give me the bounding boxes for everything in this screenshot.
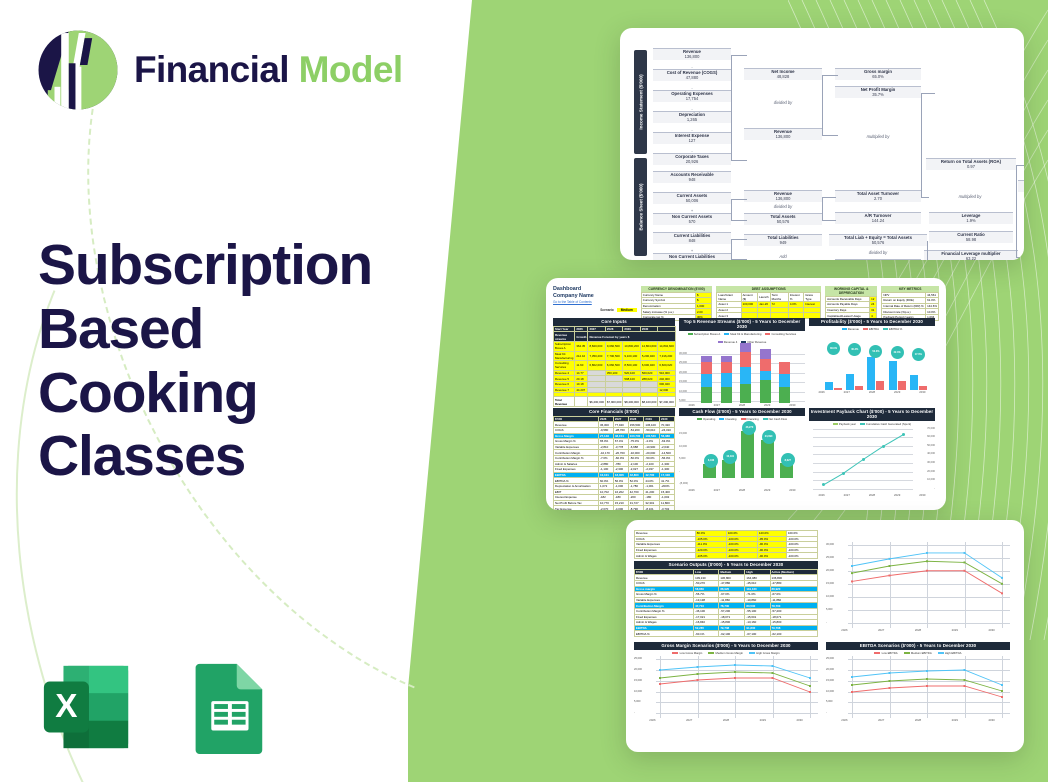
brand-logo: Financial Model xyxy=(36,28,403,112)
page-title-line-4: Classes xyxy=(38,425,458,489)
y-tick-label: 15,000 xyxy=(634,679,642,682)
core-inputs-table: Start Year20262027202820292030Revenue st… xyxy=(553,326,676,407)
x-tick-label: 2030 xyxy=(796,718,802,722)
connector xyxy=(1016,165,1017,257)
x-tick-label: 2030 xyxy=(919,493,925,497)
node-depreciation: Depreciation1,265 xyxy=(653,111,731,123)
connector xyxy=(822,197,823,221)
node-revenue: Revenue136,800 xyxy=(653,48,731,60)
table-cell: Revenue Forecast by years $ xyxy=(588,332,675,342)
income-statement-band: Income Statement ($'000) xyxy=(634,50,647,154)
left-content-panel: Financial Model Subscription Based Cooki… xyxy=(0,0,470,782)
data-point xyxy=(862,458,865,461)
legend-item: Cumulative Cash Generated (Spent) xyxy=(860,422,911,426)
legend-item: Net Cash Flow xyxy=(763,417,787,421)
x-tick-label: 2027 xyxy=(878,628,884,632)
table-cell: 6,802,000 xyxy=(588,361,605,371)
legend-item: EBITDA % xyxy=(883,327,902,331)
table-cell: -90.0% xyxy=(757,553,786,559)
y-tick-label: 10,000 xyxy=(634,690,642,693)
x-tick-label: 2026 xyxy=(818,390,824,394)
data-label-bubble: 10,191 xyxy=(723,450,737,464)
brand-name-part2: Model xyxy=(299,49,403,90)
legend-swatch xyxy=(672,652,678,654)
bar-segment xyxy=(779,374,790,387)
table-cell: -67,100 xyxy=(745,631,770,637)
table-of-contents-link[interactable]: Go to the Table of Contents xyxy=(553,300,637,304)
page-title-line-3: Cooking xyxy=(38,362,458,426)
scenario-value[interactable]: Medium xyxy=(617,308,637,312)
x-tick-label: 2028 xyxy=(915,628,921,632)
table-row: Admin & Wages-105.0%-100.0%-90.0%-100.0% xyxy=(635,553,818,559)
table-cell: $8,400,000 xyxy=(623,397,640,407)
node-revenue-2: Revenue136,800 xyxy=(744,128,822,140)
table-cell: Revenue streams xyxy=(554,332,575,342)
bar xyxy=(867,357,875,390)
chart-x-axis: 20262027202820292030 xyxy=(634,718,818,722)
legend-item: High Gross Margin xyxy=(749,651,780,655)
connector xyxy=(1016,257,1024,258)
working-capital-panel: WORKING CAPITAL & DEPRECIATION Accounts … xyxy=(825,286,877,319)
node-roa: Return on Total Assets (ROA)0.97 xyxy=(926,158,1016,170)
connector xyxy=(921,93,922,197)
legend-swatch xyxy=(765,333,770,335)
line-series-group xyxy=(826,656,1010,718)
data-point xyxy=(842,472,845,475)
table-cell: Consulting Services xyxy=(554,361,575,371)
table-cell: -62,100 xyxy=(719,631,745,637)
table-cell: Total Revenue xyxy=(554,397,575,407)
table-cell: Grace Type xyxy=(804,292,821,302)
chart-x-axis: 20262027202820292030 xyxy=(679,403,805,407)
bar xyxy=(855,386,863,390)
op-multiplied-1: multiplied by xyxy=(848,134,908,139)
data-label-bubble: 24,090 xyxy=(762,430,776,444)
x-tick-label: 2028 xyxy=(739,488,745,492)
table-cell: 9,060,500 xyxy=(605,341,622,351)
op-divided-1: divided by xyxy=(753,100,813,105)
table-cell: 7,350,200 xyxy=(588,351,605,361)
table-cell: -105.0% xyxy=(695,553,726,559)
node-non-current-assets: Non Current Assets570 xyxy=(653,213,731,225)
debt-panel: DEBT ASSUMPTIONS Loan/Grant NameAmount (… xyxy=(716,286,821,319)
node-roe: Return on Equity (ROE)61.03 xyxy=(1018,180,1024,192)
x-tick-label: 2027 xyxy=(714,488,720,492)
scenario-analysis-screenshot[interactable]: Revenue80.0%100.0%120.0%100.0%COGS-105.0… xyxy=(626,520,1024,752)
legend-swatch xyxy=(833,423,838,425)
node-total-liab-equity: Total Liab + Equity = Total Assets50,576 xyxy=(829,234,927,246)
data-label-bubble: 36.0% xyxy=(827,342,840,355)
table-cell: Amount ($) xyxy=(741,292,758,302)
core-financials-panel: Core Financials ($'000) $'00020262027202… xyxy=(553,408,675,504)
bar-segment xyxy=(701,362,712,374)
connector xyxy=(921,93,935,94)
bar xyxy=(898,381,906,390)
x-tick-label: 2026 xyxy=(841,628,847,632)
x-tick-label: 2029 xyxy=(952,628,958,632)
y-tick-label: 20,000 xyxy=(826,668,834,671)
y-tick-label: 30,000 xyxy=(927,461,935,464)
node-gross-margin: Gross margin65.0% xyxy=(835,68,921,80)
x-tick-label: 2030 xyxy=(789,488,795,492)
x-tick-label: 2029 xyxy=(952,718,958,722)
connector xyxy=(822,75,823,135)
legend-item: Subscription Boxes A xyxy=(688,332,720,336)
legend-swatch xyxy=(719,418,724,420)
ebitda-scenarios-chart: EBITDA Scenarios ($'000) - 5 Years to De… xyxy=(826,642,1010,736)
x-tick-label: 2027 xyxy=(844,390,850,394)
bar xyxy=(825,382,833,390)
legend-item: Medium Gross Margin xyxy=(708,651,743,655)
node-net-income: Net Income48,828 xyxy=(744,68,822,80)
bar-segment xyxy=(721,387,732,403)
bar xyxy=(910,375,918,390)
table-cell: Term Months xyxy=(770,292,788,302)
bar-segment xyxy=(740,343,751,352)
node-revenue-3: Revenue136,800 xyxy=(744,190,822,202)
legend-swatch xyxy=(883,328,888,330)
legend-item: Consulting Services xyxy=(765,332,796,336)
bar xyxy=(701,356,712,403)
y-tick-label: 50,000 xyxy=(927,444,935,447)
y-tick-label: - xyxy=(634,711,635,714)
legend-swatch xyxy=(860,423,865,425)
y-tick-label: 30,000 xyxy=(826,543,834,546)
x-tick-label: 2030 xyxy=(988,628,994,632)
y-tick-label: 25,000 xyxy=(826,657,834,660)
bar-segment xyxy=(740,384,751,403)
table-cell: 144.6% xyxy=(926,303,939,309)
table-cell: -2,070 xyxy=(598,506,613,510)
bar-segment xyxy=(760,349,771,359)
node-non-current-liabilities: Non Current Liabilities101 xyxy=(653,253,731,260)
table-cell: 14,804,600 xyxy=(658,341,675,351)
bar xyxy=(876,381,884,390)
table-cell: 364.35 xyxy=(575,341,588,351)
table-row: Return on Equity (ROE)61.0% xyxy=(882,298,939,304)
core-financials-table: $'00020262027202820292030Revenue36,30077… xyxy=(553,416,675,510)
legend-item: Operating xyxy=(697,417,715,421)
legend-item: Low EBITDA xyxy=(874,651,897,655)
x-tick-label: 2028 xyxy=(915,718,921,722)
legend-swatch xyxy=(749,652,755,654)
dupont-analysis-screenshot[interactable]: Income Statement ($'000) Balance Sheet (… xyxy=(620,28,1024,260)
table-row: Loan/Grant NameAmount ($)LaunchTerm Mont… xyxy=(717,292,821,302)
bar-segment xyxy=(721,373,732,387)
table-cell: -62,100 xyxy=(770,631,817,637)
data-point xyxy=(822,483,825,486)
legend-item: Investing xyxy=(719,417,736,421)
x-tick-label: 2028 xyxy=(739,403,745,407)
wc-table: Accounts Receivable Days12Accounts Payab… xyxy=(825,296,877,319)
x-tick-label: 2029 xyxy=(894,390,900,394)
bar-segment xyxy=(701,387,712,403)
data-point xyxy=(882,445,885,448)
x-tick-label: 2029 xyxy=(894,493,900,497)
y-tick-label: 20,000 xyxy=(826,569,834,572)
table-cell: -100.0% xyxy=(726,553,757,559)
bar-segment xyxy=(740,367,751,383)
scenario-revenue-chart: 30,00025,00020,00015,00010,0005,000- 202… xyxy=(826,530,1010,634)
node-interest-expense: Interest Expense127 xyxy=(653,132,731,144)
chart-plot: 36.0%40.2%52.0%42.4%17.0% xyxy=(809,332,935,390)
dashboard-body: DashboardCompany Name Go to the Table of… xyxy=(546,278,946,510)
table-cell: 6,600,020 xyxy=(658,361,675,371)
node-current-liabilities: Current Liabilities848 xyxy=(653,232,731,244)
node-accounts-receivable: Accounts Receivable948 xyxy=(653,171,731,183)
currency-panel: CURRENCY DENOMINATION ($'000) Currency N… xyxy=(641,286,713,321)
chart-x-axis: 20262027202820292030 xyxy=(826,718,1010,722)
table-row: Internal Rate of Return (IRR) %144.6% xyxy=(882,303,939,309)
data-label-bubble: 42.4% xyxy=(891,346,904,359)
bar xyxy=(761,440,774,478)
table-cell: Interest % xyxy=(788,292,803,302)
x-tick-label: 2029 xyxy=(764,488,770,492)
op-divided-3: divided by xyxy=(848,250,908,255)
node-leverage: Leverage1.9% xyxy=(929,212,1013,224)
x-tick-label: 2030 xyxy=(988,718,994,722)
table-row: Revenue streamsGrowthRevenue Forecast by… xyxy=(554,332,676,342)
table-cell: $7,900,000 xyxy=(605,397,622,407)
bar-segment xyxy=(760,371,771,380)
chart-x-axis: 20262027202820292030 xyxy=(679,488,805,492)
y-tick-label: - xyxy=(826,711,827,714)
scenario-assumptions-table: Revenue80.0%100.0%120.0%100.0%COGS-105.0… xyxy=(634,530,818,559)
node-current-assets: Current Assets50,006 xyxy=(653,192,731,204)
x-tick-label: 2028 xyxy=(869,493,875,497)
y-tick-label: - xyxy=(826,621,827,624)
x-tick-label: 2030 xyxy=(919,390,925,394)
legend-item: Meal Kit & Manufacturing xyxy=(724,332,761,336)
table-cell: 8,500,100 xyxy=(623,361,640,371)
legend-swatch xyxy=(718,341,723,343)
bar-segment xyxy=(740,352,751,367)
y-tick-label: 15,000 xyxy=(826,679,834,682)
table-cell: 10,800,200 xyxy=(623,341,640,351)
table-cell: -4,000 xyxy=(613,506,628,510)
connector xyxy=(731,199,747,200)
data-label-bubble: 6,446 xyxy=(704,454,718,468)
bar-segment xyxy=(760,380,771,403)
page-title-line-1: Subscription xyxy=(38,234,458,298)
legend-swatch xyxy=(741,418,746,420)
table-cell: 6,060,500 xyxy=(605,361,622,371)
legend-item: EBITDA xyxy=(863,327,879,331)
y-tick-label: - xyxy=(934,487,935,490)
x-tick-label: 2028 xyxy=(723,718,729,722)
legend-item: Revenue 4 xyxy=(718,340,738,344)
x-tick-label: 2026 xyxy=(688,488,694,492)
table-cell: -3,702 xyxy=(660,506,675,510)
legend-swatch xyxy=(938,652,944,654)
y-tick-label: 10,000 xyxy=(826,595,834,598)
data-label-bubble: 17.0% xyxy=(912,348,925,361)
legend-item: Revenue xyxy=(842,327,859,331)
table-cell: 5,200,020 xyxy=(640,351,657,361)
bar xyxy=(721,356,732,403)
chart-x-axis: 20262027202820292030 xyxy=(826,628,1010,632)
bar xyxy=(740,343,751,403)
legend-item: Medium EBITDA xyxy=(904,651,932,655)
table-cell: -100.0% xyxy=(786,553,817,559)
node-cogs: Cost of Revenue (COGS)47,880 xyxy=(653,69,731,81)
revenue-streams-chart: Top 5 Revenue Streams ($'000) - 5 Years … xyxy=(679,318,805,404)
connector xyxy=(731,220,747,221)
page-title-line-2: Based xyxy=(38,298,458,362)
table-cell: 212.10 xyxy=(575,351,588,361)
legend-swatch xyxy=(688,333,693,335)
y-tick-label: 5,000 xyxy=(826,700,833,703)
bar xyxy=(889,361,897,390)
table-cell: $8,100,000 xyxy=(640,397,657,407)
bar xyxy=(741,431,754,478)
financial-dashboard-screenshot[interactable]: DashboardCompany Name Go to the Table of… xyxy=(546,278,946,510)
node-total-asset-turnover: Total Asset Turnover2.70 xyxy=(835,190,921,202)
x-tick-label: 2029 xyxy=(764,403,770,407)
legend-item: Payback year xyxy=(833,422,856,426)
node-ar-turnover: A/R Turnover144.24 xyxy=(835,212,921,224)
connector xyxy=(822,197,836,198)
bar xyxy=(834,388,842,390)
chart-plot: 70,00060,00050,00040,00030,00020,00010,0… xyxy=(809,427,935,493)
legend-swatch xyxy=(697,418,702,420)
connector xyxy=(731,239,732,260)
debt-table: Loan/Grant NameAmount ($)LaunchTerm Mont… xyxy=(716,292,821,319)
table-cell: $7,200,000 xyxy=(658,397,675,407)
connector xyxy=(822,135,838,136)
chart-plot: 30,00025,00020,00015,00010,0005,000- xyxy=(826,542,1010,628)
gross-margin-scenarios-chart: Gross Margin Scenarios ($'000) - 5 Years… xyxy=(634,642,818,736)
op-add: Add xyxy=(753,254,813,259)
legend-swatch xyxy=(724,333,729,335)
node-financial-leverage-multiplier: Financial Leverage multiplier63.22 xyxy=(924,250,1018,260)
brand-name-part1: Financial xyxy=(134,49,289,90)
op-divided-2: divided by xyxy=(753,204,813,209)
chart-plot: 25,00020,00015,00010,0005,000- xyxy=(634,656,818,718)
y-tick-label: 40,000 xyxy=(927,452,935,455)
bar-segment xyxy=(779,387,790,403)
brand-name: Financial Model xyxy=(134,49,403,91)
node-shareholders-equity: Shareholder's Equity800 xyxy=(835,259,921,260)
profitability-chart: Profitability ($'000) - 5 Years to Decem… xyxy=(809,318,935,404)
connector xyxy=(731,55,732,160)
y-tick-label: 70,000 xyxy=(927,427,935,430)
connector xyxy=(731,160,747,161)
cash-flow-chart: Cash Flow ($'000) - 5 Years to December … xyxy=(679,408,805,504)
page-title: Subscription Based Cooking Classes xyxy=(38,234,458,489)
x-tick-label: 2026 xyxy=(818,493,824,497)
connector xyxy=(927,241,928,260)
core-inputs-panel: Core Inputs Start Year202620272028202920… xyxy=(553,318,675,404)
google-sheets-icon[interactable] xyxy=(176,658,274,756)
y-tick-label: 5,000 xyxy=(634,700,641,703)
connector xyxy=(921,197,929,198)
chart-plot: 15,00010,0005,000--(5,000)6,44610,19126,… xyxy=(679,422,805,488)
legend-swatch xyxy=(763,418,768,420)
chart-plot: 30,00025,00020,00015,00010,0005,000 xyxy=(679,345,805,403)
bar-segment xyxy=(701,374,712,387)
op-multiplied-2: multiplied by xyxy=(940,194,1000,199)
chart-x-axis: 20262027202820292030 xyxy=(809,390,935,394)
y-tick-label: 25,000 xyxy=(634,657,642,660)
km-table: NPV44,561Return on Equity (ROE)61.0%Inte… xyxy=(881,292,939,321)
bar-segment xyxy=(779,362,790,374)
table-row: Discount rate (%p.a.)10.0% xyxy=(882,309,939,315)
connector xyxy=(731,259,747,260)
table-row: Subscription Boxes A364.358,820,0009,060… xyxy=(554,341,676,351)
table-cell: 11.60 xyxy=(575,361,588,371)
x-tick-label: 2028 xyxy=(869,390,875,394)
x-tick-label: 2027 xyxy=(714,403,720,407)
table-cell: 12,804,600 xyxy=(640,341,657,351)
y-tick-label: 10,000 xyxy=(826,690,834,693)
table-cell: Tax Expense xyxy=(554,506,599,510)
format-icons: X xyxy=(38,658,274,756)
scenario-label: Scenario xyxy=(600,308,613,312)
legend-swatch xyxy=(874,652,880,654)
currency-table: Currency Name$Currency Symbol$Denominati… xyxy=(641,292,713,321)
table-cell: Admin & Wages xyxy=(635,553,696,559)
x-tick-label: 2026 xyxy=(649,718,655,722)
connector xyxy=(822,220,836,221)
payback-chart: Investment Payback Chart ($'000) - 5 Yea… xyxy=(809,408,935,504)
connector xyxy=(731,55,747,56)
table-cell: Loan/Grant Name xyxy=(717,292,741,302)
node-net-profit-margin: Net Profit Margin35.7% xyxy=(835,86,921,98)
financial-model-circle-bars-logo-icon xyxy=(36,28,120,112)
chart-x-axis: 20262027202820292030 xyxy=(809,493,935,497)
table-cell: Internal Rate of Return (IRR) % xyxy=(882,303,926,309)
connector xyxy=(1016,165,1024,166)
table-cell: $6,200,000 xyxy=(588,397,605,407)
table-cell: 6,600,020 xyxy=(640,361,657,371)
x-tick-label: 2027 xyxy=(686,718,692,722)
legend-item: Low Gross Margin xyxy=(672,651,702,655)
bar-segment xyxy=(721,362,732,373)
x-tick-label: 2026 xyxy=(841,718,847,722)
connector xyxy=(731,199,732,221)
y-tick-label: -(5,000) xyxy=(679,482,805,485)
scenario-outputs-table: $'000LowMediumHighActive (Medium)Revenue… xyxy=(634,569,818,637)
y-tick-label: 15,000 xyxy=(826,582,834,585)
x-tick-label: 2029 xyxy=(760,718,766,722)
line-series-group xyxy=(826,542,1010,628)
line-series-group xyxy=(634,656,818,718)
table-row: Consulting Services11.606,802,0006,060,5… xyxy=(554,361,676,371)
node-current-ratio: Current Ratio58.98 xyxy=(929,231,1013,243)
table-row: EBITDA %-60.1%-62,100-67,100-62,100 xyxy=(635,631,818,637)
node-corporate-taxes: Corporate Taxes20,926 xyxy=(653,153,731,165)
connector xyxy=(731,239,747,240)
balance-sheet-band: Balance Sheet ($'000) xyxy=(634,158,647,256)
dashboard-title: Dashboard xyxy=(553,286,581,292)
legend-swatch xyxy=(863,328,868,330)
x-tick-label: 2026 xyxy=(688,403,694,407)
scenario-left: Revenue80.0%100.0%120.0%100.0%COGS-105.0… xyxy=(634,530,818,634)
y-tick-label: 5,000 xyxy=(826,608,833,611)
bar xyxy=(919,386,927,390)
microsoft-excel-icon[interactable]: X xyxy=(38,658,136,756)
bar-segment xyxy=(760,359,771,371)
table-row: Tax Expense-2,070-4,000-8,790-8,101-3,70… xyxy=(554,506,675,510)
dupont-tree: Income Statement ($'000) Balance Sheet (… xyxy=(620,28,1024,260)
legend-item: High EBITDA xyxy=(938,651,962,655)
node-total-assets: Total Assets50,576 xyxy=(744,213,822,225)
table-cell: Growth xyxy=(575,332,588,342)
table-row: Total Revenue$6,200,000$7,900,000$8,400,… xyxy=(554,397,676,407)
bar xyxy=(846,374,854,390)
table-cell xyxy=(575,397,588,407)
